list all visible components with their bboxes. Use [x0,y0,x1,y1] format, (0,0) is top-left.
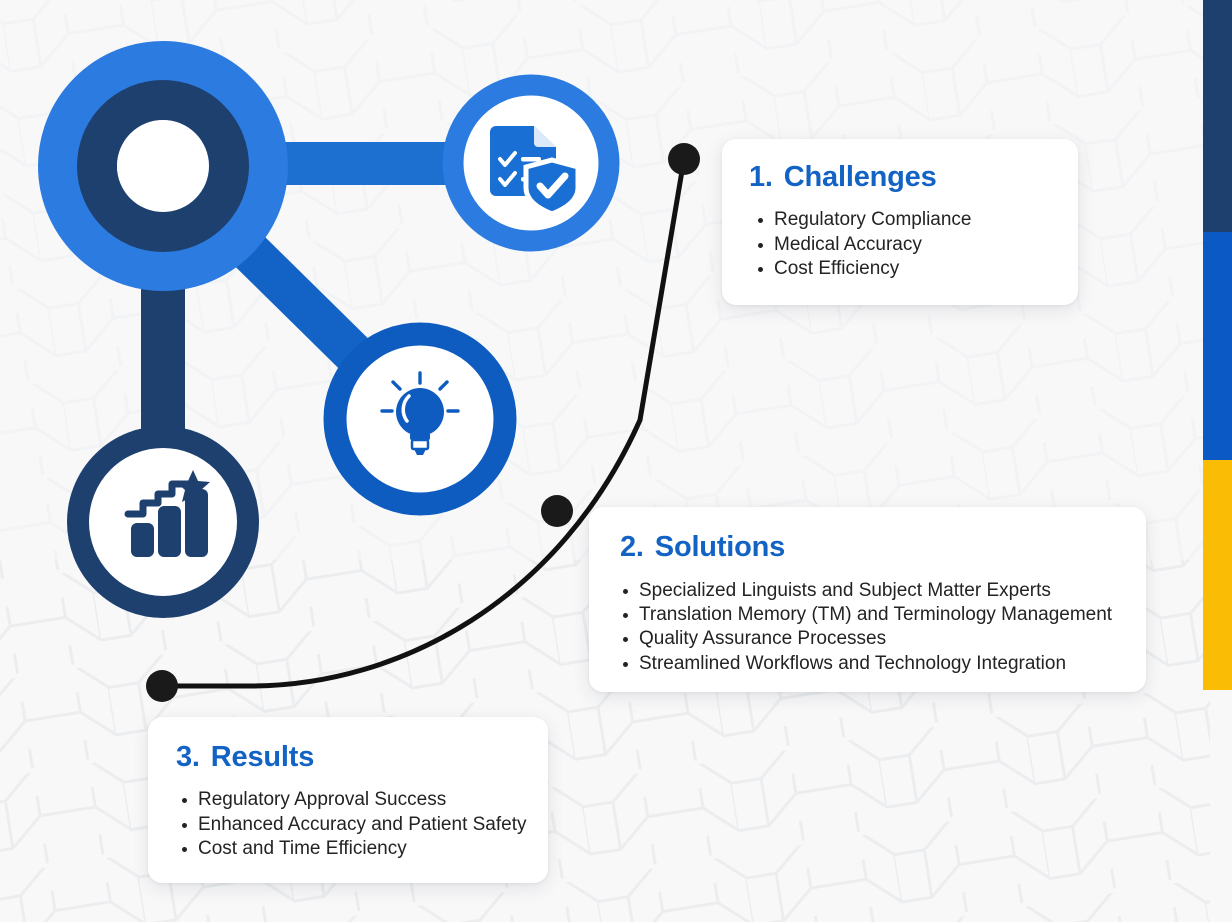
edge-band-blue [1203,232,1232,460]
card-challenges-title: 1. Challenges [722,139,1078,194]
list-item: Translation Memory (TM) and Terminology … [639,603,1146,627]
infographic-canvas: 1. Challenges Regulatory Compliance Medi… [0,0,1232,922]
curve-marker-challenges [668,143,700,175]
card-results-number: 3. [176,741,200,774]
edge-band-navy [1203,0,1232,232]
card-challenges-number: 1. [749,161,773,194]
card-solutions-list: Specialized Linguists and Subject Matter… [639,579,1146,676]
list-item: Cost Efficiency [774,257,1078,282]
list-item: Specialized Linguists and Subject Matter… [639,579,1146,603]
list-item: Regulatory Approval Success [198,788,548,813]
curve-marker-solutions [541,495,573,527]
card-solutions[interactable]: 2. Solutions Specialized Linguists and S… [589,507,1146,692]
card-challenges-heading: Challenges [784,161,937,194]
list-item: Medical Accuracy [774,233,1078,258]
list-item: Cost and Time Efficiency [198,837,548,862]
curve-marker-results [146,670,178,702]
card-solutions-number: 2. [620,531,644,564]
card-results-heading: Results [211,741,314,774]
card-solutions-title: 2. Solutions [589,507,1146,564]
list-item: Enhanced Accuracy and Patient Safety [198,813,548,838]
edge-band-yellow [1203,460,1232,690]
card-challenges-list: Regulatory Compliance Medical Accuracy C… [774,208,1078,282]
list-item: Streamlined Workflows and Technology Int… [639,652,1146,676]
card-results[interactable]: 3. Results Regulatory Approval Success E… [148,717,548,883]
card-solutions-heading: Solutions [655,531,785,564]
card-challenges[interactable]: 1. Challenges Regulatory Compliance Medi… [722,139,1078,305]
card-results-list: Regulatory Approval Success Enhanced Acc… [198,788,548,862]
list-item: Regulatory Compliance [774,208,1078,233]
card-results-title: 3. Results [148,717,548,774]
list-item: Quality Assurance Processes [639,627,1146,651]
